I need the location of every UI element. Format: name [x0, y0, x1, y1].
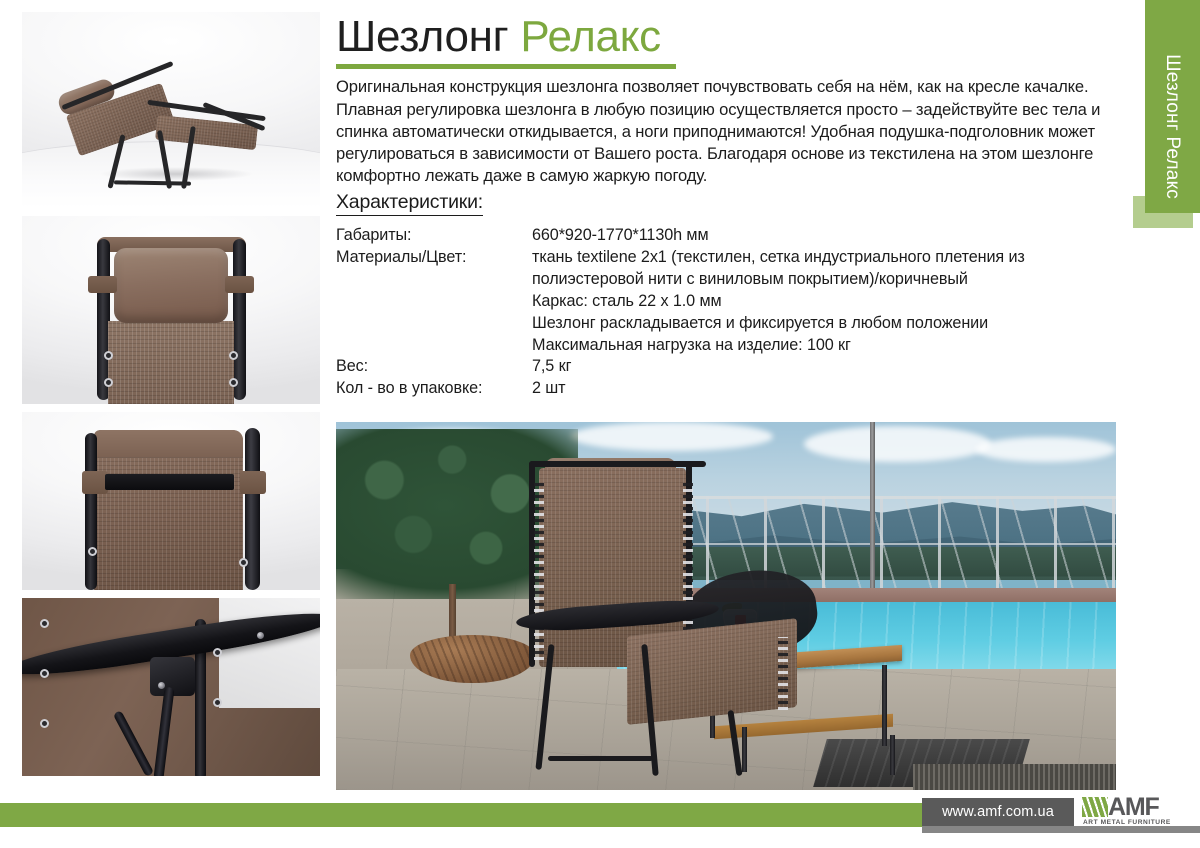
spec-value: 660*920-1770*1130h мм — [532, 225, 1116, 247]
specifications-table: Габариты: 660*920-1770*1130h мм Материал… — [336, 225, 1116, 401]
logo-tagline: ART METAL FURNITURE — [1083, 819, 1171, 826]
table-row: Габариты: 660*920-1770*1130h мм — [336, 225, 1116, 247]
hero-image-poolside-scene[interactable] — [336, 422, 1116, 790]
spec-label: Кол - во в упаковке: — [336, 378, 532, 400]
frame-top — [529, 461, 706, 467]
spec-value: Максимальная нагрузка на изделие: 100 кг — [532, 335, 1116, 357]
spec-value: 7,5 кг — [532, 356, 1116, 378]
bungee-eyelet — [40, 719, 49, 728]
foot-bar — [548, 756, 653, 761]
bungee-eyelet — [88, 547, 97, 556]
bungee-eyelet — [213, 698, 222, 707]
product-info: Шезлонг Релакс Оригинальная конструкция … — [336, 14, 1116, 400]
title-main: Шезлонг — [336, 12, 508, 61]
table-leg — [882, 665, 887, 746]
drainage-grate — [913, 764, 1116, 790]
backrest-top-hem — [94, 430, 243, 458]
title-accent: Релакс — [520, 12, 661, 61]
adjustment-strap — [105, 474, 233, 490]
footer-url-box[interactable]: www.amf.com.ua — [922, 798, 1074, 826]
bungee-eyelet — [104, 378, 113, 387]
pillow-strap-right — [225, 276, 255, 293]
light-pole — [870, 422, 875, 588]
spec-value: Каркас: сталь 22 х 1.0 мм — [532, 291, 1116, 313]
frame-right — [245, 428, 260, 590]
frame-right — [233, 239, 246, 401]
product-in-scene — [476, 451, 804, 782]
thumbnail-armrest-hinge-detail[interactable] — [22, 598, 320, 776]
spec-label — [336, 335, 532, 357]
footer-green-bar — [0, 803, 922, 827]
spec-value: ткань textilene 2х1 (текстилен, сетка ин… — [532, 247, 1116, 291]
pillow-strap-left — [88, 276, 118, 293]
amf-logo: AMF ART METAL FURNITURE — [1082, 795, 1190, 829]
backrest-mesh — [108, 321, 233, 404]
spec-label — [336, 291, 532, 313]
footer-url: www.amf.com.ua — [942, 804, 1054, 820]
thumbnail-side-view-reclined[interactable] — [22, 12, 320, 208]
table-row: Кол - во в упаковке: 2 шт — [336, 378, 1116, 400]
logo-wordmark: AMF — [1108, 795, 1159, 820]
spec-value: 2 шт — [532, 378, 1116, 400]
specs-heading: Характеристики: — [336, 191, 483, 216]
table-row: Каркас: сталь 22 х 1.0 мм — [336, 291, 1116, 313]
side-tab: Шезлонг Релакс — [1145, 0, 1200, 213]
bungee-eyelet — [213, 648, 222, 657]
strap-loop-right — [240, 471, 267, 494]
bungee-lacing-legrest — [778, 637, 788, 710]
frame-left — [85, 433, 97, 590]
spec-label — [336, 313, 532, 335]
thumbnail-headrest-pillow-detail[interactable] — [22, 216, 320, 404]
legrest-leg — [727, 710, 742, 776]
bungee-lacing-left — [534, 481, 544, 660]
product-gallery — [22, 12, 320, 776]
spec-value: Шезлонг раскладывается и фиксируется в л… — [532, 313, 1116, 335]
spec-label: Материалы/Цвет: — [336, 247, 532, 291]
table-leg — [890, 735, 895, 775]
spec-label: Габариты: — [336, 225, 532, 247]
table-row: Вес: 7,5 кг — [336, 356, 1116, 378]
hinge-screw — [158, 682, 165, 689]
table-row: Шезлонг раскладывается и фиксируется в л… — [336, 313, 1116, 335]
logo-slashes-icon — [1082, 797, 1108, 817]
side-tab-label: Шезлонг Релакс — [1145, 0, 1200, 213]
tree-trunk — [449, 584, 456, 643]
headrest-pillow — [114, 248, 227, 323]
spec-label: Вес: — [336, 356, 532, 378]
title-underline-rule — [336, 64, 676, 69]
thumbnail-backrest-strap-detail[interactable] — [22, 412, 320, 590]
product-description: Оригинальная конструкция шезлонга позвол… — [336, 76, 1116, 188]
bungee-eyelet — [40, 669, 49, 678]
foot-bar — [114, 180, 192, 185]
product-shadow — [99, 167, 254, 181]
table-row: Максимальная нагрузка на изделие: 100 кг — [336, 335, 1116, 357]
strap-loop-left — [82, 471, 109, 494]
bungee-eyelet — [229, 378, 238, 387]
table-row: Материалы/Цвет: ткань textilene 2х1 (тек… — [336, 247, 1116, 291]
page-title: Шезлонг Релакс — [336, 14, 1116, 60]
